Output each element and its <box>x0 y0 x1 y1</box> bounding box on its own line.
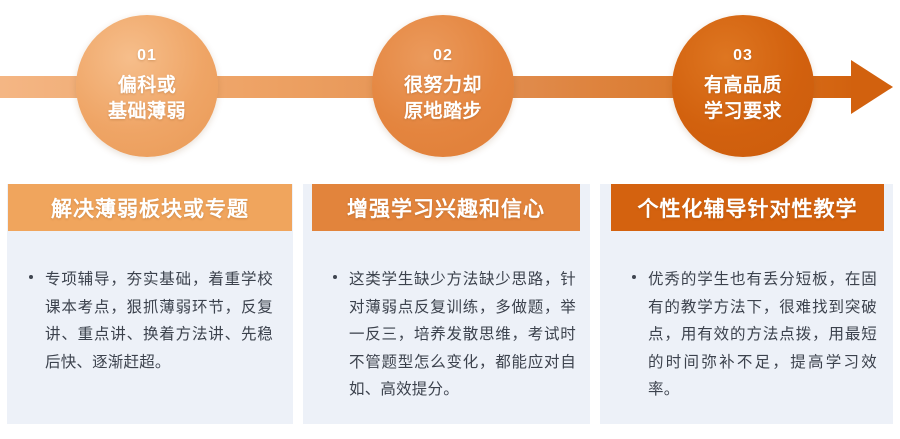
step-caption-line1: 有高品质 <box>704 73 782 98</box>
process-step-circle-01[interactable]: 01 偏科或 基础薄弱 <box>76 15 218 157</box>
step-caption: 很努力却 原地踏步 <box>404 73 482 123</box>
step-caption-line2: 学习要求 <box>704 99 782 124</box>
solution-card-title: 解决薄弱板块或专题 <box>8 184 292 231</box>
step-caption-line2: 基础薄弱 <box>108 99 186 124</box>
step-caption: 偏科或 基础薄弱 <box>108 73 186 123</box>
solution-card-2[interactable]: 增强学习兴趣和信心 这类学生缺少方法缺少思路，针对薄弱点反复训练，多做题，举一反… <box>303 184 590 424</box>
bullet-icon <box>632 266 648 404</box>
solution-card-title: 个性化辅导针对性教学 <box>611 184 884 231</box>
step-caption-line1: 偏科或 <box>108 73 186 98</box>
process-step-circle-02[interactable]: 02 很努力却 原地踏步 <box>372 15 514 157</box>
step-caption-line2: 原地踏步 <box>404 99 482 124</box>
solution-card-text: 专项辅导，夯实基础，着重学校课本考点，狠抓薄弱环节，反复讲、重点讲、换着方法讲、… <box>45 266 273 376</box>
step-caption-line1: 很努力却 <box>404 73 482 98</box>
solution-card-3[interactable]: 个性化辅导针对性教学 优秀的学生也有丢分短板，在固有的教学方法下，很难找到突破点… <box>600 184 893 424</box>
bullet-icon <box>29 266 45 376</box>
step-number: 01 <box>137 48 157 64</box>
solution-card-title: 增强学习兴趣和信心 <box>312 184 580 231</box>
step-number: 03 <box>733 48 753 64</box>
solution-card-body: 这类学生缺少方法缺少思路，针对薄弱点反复训练，多做题，举一反三，培养发散思维，考… <box>303 231 590 404</box>
step-caption: 有高品质 学习要求 <box>704 73 782 123</box>
process-step-circle-03[interactable]: 03 有高品质 学习要求 <box>672 15 814 157</box>
solution-card-body: 专项辅导，夯实基础，着重学校课本考点，狠抓薄弱环节，反复讲、重点讲、换着方法讲、… <box>7 231 293 376</box>
bullet-icon <box>333 266 349 404</box>
solution-card-1[interactable]: 解决薄弱板块或专题 专项辅导，夯实基础，着重学校课本考点，狠抓薄弱环节，反复讲、… <box>7 184 293 424</box>
solution-card-text: 优秀的学生也有丢分短板，在固有的教学方法下，很难找到突破点，用有效的方法点拨，用… <box>648 266 877 404</box>
solution-card-text: 这类学生缺少方法缺少思路，针对薄弱点反复训练，多做题，举一反三，培养发散思维，考… <box>349 266 576 404</box>
step-number: 02 <box>433 48 453 64</box>
process-arrow-head-icon <box>851 60 893 114</box>
infographic-stage: 01 偏科或 基础薄弱 02 很努力却 原地踏步 03 有高品质 学习要求 解决… <box>0 0 900 439</box>
solution-card-body: 优秀的学生也有丢分短板，在固有的教学方法下，很难找到突破点，用有效的方法点拨，用… <box>600 231 893 404</box>
